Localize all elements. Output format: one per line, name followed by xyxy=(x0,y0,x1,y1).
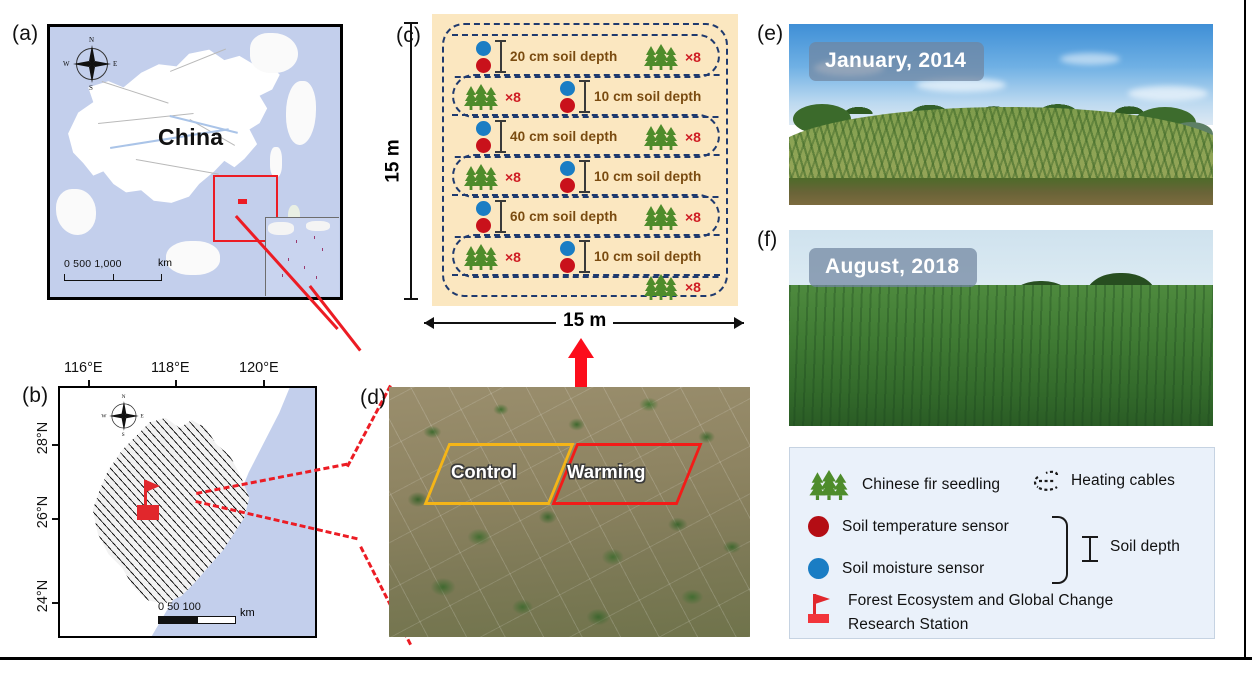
soil-moisture-sensor-icon xyxy=(560,241,575,256)
panel-e-photo-2014: January, 2014 xyxy=(789,24,1213,205)
sensor-dots xyxy=(560,241,575,273)
sensor-group: 10 cm soil depth xyxy=(560,240,701,273)
dim-cap-bottom xyxy=(404,298,418,300)
flag-banner xyxy=(815,594,830,604)
soil-depth-icon xyxy=(495,200,506,233)
fir-canopy xyxy=(789,285,1213,426)
soil-depth-label: 40 cm soil depth xyxy=(510,129,617,144)
soil-depth-icon xyxy=(579,240,590,273)
fir-tree-icon xyxy=(644,274,678,300)
lat-tick-24n: 24°N xyxy=(35,575,51,617)
panel-c-plot-layout: 20 cm soil depth ×8 xyxy=(432,14,738,306)
panel-f-photo-2018: August, 2018 xyxy=(789,230,1213,426)
scale-seg-empty xyxy=(198,616,237,624)
scale-bar-a: 0 500 1,000 xyxy=(64,258,162,281)
soil-depth-label: 60 cm soil depth xyxy=(510,209,617,224)
study-site-marker xyxy=(238,199,247,204)
soil-moisture-sensor-icon xyxy=(560,161,575,176)
flag-base-square xyxy=(808,614,829,623)
dimension-horizontal-label: 15 m xyxy=(556,310,613,332)
fir-tree-icon xyxy=(464,84,498,110)
soil-temperature-sensor-icon xyxy=(560,178,575,193)
inset-island xyxy=(288,258,289,261)
compass-star-icon xyxy=(106,398,142,434)
tree-count-label: ×8 xyxy=(505,89,521,105)
legend-label-soil-depth: Soil depth xyxy=(1110,538,1180,556)
legend-station-line2: Research Station xyxy=(848,616,969,634)
tree-group: ×8 xyxy=(644,274,701,300)
compass-rose-b: N E S W xyxy=(106,398,142,434)
heating-cable-icon xyxy=(1033,470,1061,492)
legend-station-line1: Forest Ecosystem and Global Change xyxy=(848,592,1113,610)
panel-f-label: (f) xyxy=(757,228,777,252)
sensor-group: 10 cm soil depth xyxy=(560,160,701,193)
compass-south-label: S xyxy=(89,84,93,92)
sensor-group: 40 cm soil depth xyxy=(476,120,617,153)
soil-temperature-sensor-icon xyxy=(476,58,491,73)
legend-item-fir-seedling: Chinese fir seedling xyxy=(808,470,1000,500)
research-station-flag-icon xyxy=(808,594,834,628)
soil-temperature-sensor-icon xyxy=(476,138,491,153)
warming-plot-label: Warming xyxy=(567,461,645,483)
tree-group: ×8 xyxy=(464,164,521,190)
tree-count-label: ×8 xyxy=(685,49,701,65)
tree-count-label: ×8 xyxy=(685,129,701,145)
panel-f-caption: August, 2018 xyxy=(809,248,977,287)
inset-island xyxy=(314,236,315,239)
legend-brace xyxy=(1052,516,1068,584)
tree-count-label: ×8 xyxy=(685,209,701,225)
soil-moisture-sensor-icon xyxy=(476,201,491,216)
south-china-sea-inset xyxy=(265,217,339,296)
southwest-land xyxy=(56,189,96,235)
soil-depth-icon xyxy=(579,80,590,113)
sensor-dots xyxy=(476,41,491,73)
soil-depth-icon xyxy=(579,160,590,193)
sensor-dots xyxy=(476,201,491,233)
soil-depth-label: 20 cm soil depth xyxy=(510,49,617,64)
soil-moisture-sensor-icon xyxy=(476,121,491,136)
panel-d-label: (d) xyxy=(360,386,386,410)
tree-group: ×8 xyxy=(644,124,701,150)
cloud xyxy=(1060,53,1120,65)
panel-d-aerial-photo: Control Warming xyxy=(389,387,750,637)
aerial-photo-image xyxy=(389,387,750,637)
legend-item-moisture-sensor: Soil moisture sensor xyxy=(808,558,984,579)
inset-land xyxy=(306,221,330,231)
figure-frame-right xyxy=(1244,0,1246,659)
inset-land xyxy=(268,222,294,235)
red-circle-icon xyxy=(808,516,829,537)
flag-base-square xyxy=(137,505,159,520)
scale-bar-a-text: 0 500 1,000 xyxy=(64,258,162,270)
lat-tick-28n: 28°N xyxy=(35,417,51,459)
soil-depth-icon xyxy=(495,120,506,153)
korea-peninsula xyxy=(270,147,282,177)
legend-label-heating-cables: Heating cables xyxy=(1071,472,1175,490)
lon-tick-116e: 116°E xyxy=(64,360,103,376)
soil-depth-icon xyxy=(1082,536,1098,562)
soil-temperature-sensor-icon xyxy=(560,98,575,113)
tree-count-label: ×8 xyxy=(505,249,521,265)
compass-west-label: W xyxy=(63,60,70,68)
legend-label-temperature-sensor: Soil temperature sensor xyxy=(842,518,1009,536)
dimension-vertical-label: 15 m xyxy=(383,139,405,182)
figure-frame-bottom xyxy=(0,657,1252,660)
panel-b-fujian-map: N E S W 0 50 100 km xyxy=(58,386,317,638)
soil-depth-label: 10 cm soil depth xyxy=(594,89,701,104)
panel-a-label: (a) xyxy=(12,22,38,46)
scale-bar-b-unit: km xyxy=(240,607,255,619)
sensor-dots xyxy=(476,121,491,153)
fir-tree-icon xyxy=(464,164,498,190)
indochina-land xyxy=(166,241,220,275)
compass-east-label: E xyxy=(140,413,143,419)
panel-b-label: (b) xyxy=(22,384,48,408)
sensor-dots xyxy=(560,81,575,113)
control-plot-label: Control xyxy=(451,461,517,483)
fir-tree-icon xyxy=(644,204,678,230)
inset-island xyxy=(304,266,305,269)
tree-group: ×8 xyxy=(464,244,521,270)
legend-label-moisture-sensor: Soil moisture sensor xyxy=(842,560,984,578)
tree-count-label: ×8 xyxy=(685,279,701,295)
scale-bar-b-graphic xyxy=(158,616,236,622)
compass-rose: N E S W xyxy=(69,41,115,87)
lon-tick-120e: 120°E xyxy=(239,360,279,376)
figure-legend: Chinese fir seedling Heating cables Soil… xyxy=(789,447,1215,639)
legend-item-soil-depth: Soil depth xyxy=(1110,538,1180,556)
compass-north-label: N xyxy=(89,36,94,44)
soil-depth-label: 10 cm soil depth xyxy=(594,169,701,184)
country-label-china: China xyxy=(158,124,223,151)
soil-temperature-sensor-icon xyxy=(560,258,575,273)
flag-banner xyxy=(146,480,160,492)
dim-line-vertical xyxy=(410,22,412,300)
figure-frame: (a) China xyxy=(0,0,1252,673)
dim-arrow-right xyxy=(734,317,744,329)
legend-item-heating-cables: Heating cables xyxy=(1033,470,1175,492)
neighbour-land-ne xyxy=(250,33,298,73)
sensor-group: 10 cm soil depth xyxy=(560,80,701,113)
panel-e-caption: January, 2014 xyxy=(809,42,984,81)
tree-group: ×8 xyxy=(644,204,701,230)
lon-tick-118e: 118°E xyxy=(151,360,190,376)
fir-tree-icon xyxy=(464,244,498,270)
soil-temperature-sensor-icon xyxy=(476,218,491,233)
fir-tree-icon xyxy=(644,44,678,70)
compass-east-label: E xyxy=(113,60,117,68)
fir-tree-icon xyxy=(808,470,850,500)
scale-seg-filled xyxy=(158,616,198,624)
tree-group: ×8 xyxy=(644,44,701,70)
sensor-dots xyxy=(560,161,575,193)
sensor-group: 20 cm soil depth xyxy=(476,40,617,73)
scale-bar-b: 0 50 100 km xyxy=(158,601,236,622)
soil-moisture-sensor-icon xyxy=(560,81,575,96)
inset-island xyxy=(316,276,317,279)
compass-west-label: W xyxy=(101,413,106,419)
panel-e-label: (e) xyxy=(757,22,783,46)
foreground-slope xyxy=(789,178,1213,205)
legend-label-fir-seedling: Chinese fir seedling xyxy=(862,476,1000,494)
soil-depth-icon xyxy=(495,40,506,73)
inset-island xyxy=(322,248,323,251)
tree-group: ×8 xyxy=(464,84,521,110)
panel-a-china-map: China N E S W xyxy=(47,24,343,300)
soil-moisture-sensor-icon xyxy=(476,41,491,56)
blue-circle-icon xyxy=(808,558,829,579)
sensor-group: 60 cm soil depth xyxy=(476,200,617,233)
tree-count-label: ×8 xyxy=(505,169,521,185)
fir-tree-icon xyxy=(644,124,678,150)
compass-north-label: N xyxy=(122,393,126,399)
scale-bar-b-text: 0 50 100 xyxy=(158,601,236,613)
scale-bar-a-graphic xyxy=(64,274,162,281)
dimension-vertical-15m xyxy=(404,22,418,300)
compass-star-icon xyxy=(69,41,115,87)
inset-island xyxy=(282,274,283,277)
inset-island xyxy=(296,240,297,243)
compass-south-label: S xyxy=(122,432,125,438)
soil-depth-label: 10 cm soil depth xyxy=(594,249,701,264)
legend-item-temperature-sensor: Soil temperature sensor xyxy=(808,516,1009,537)
lat-tick-26n: 26°N xyxy=(35,491,51,533)
scale-bar-a-unit: km xyxy=(158,257,172,269)
